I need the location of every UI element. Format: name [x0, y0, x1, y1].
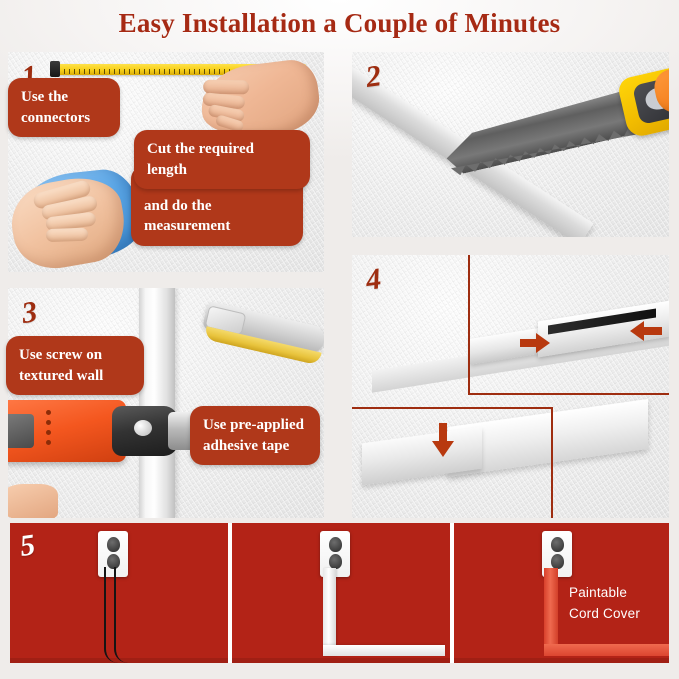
- step-3-panel: 3: [8, 288, 324, 518]
- power-drill-body: [8, 400, 126, 462]
- step-2-caption: Cut the required length: [134, 130, 310, 189]
- step-4-panel: 4: [352, 255, 669, 518]
- step-5-scene-painted-cover: Paintable Cord Cover: [454, 523, 669, 663]
- frame-line-horizontal-lower: [352, 407, 553, 409]
- infographic-page: Easy Installation a Couple of Minutes 1 …: [0, 0, 679, 679]
- page-title: Easy Installation a Couple of Minutes: [0, 6, 679, 40]
- paintable-label-line-1: Paintable: [569, 583, 640, 604]
- arrow-left-icon: [628, 321, 662, 341]
- step-5-scene-bare-cords: 5: [10, 523, 228, 663]
- paintable-label-line-2: Cord Cover: [569, 604, 640, 625]
- painted-cord-cover-horizontal: [544, 644, 669, 656]
- arrow-down-icon: [432, 423, 454, 457]
- frame-line-vertical-upper: [468, 255, 470, 395]
- step-3-caption-adhesive: Use pre-applied adhesive tape: [190, 406, 320, 465]
- arrow-right-icon: [520, 333, 550, 353]
- paintable-cord-cover-label: Paintable Cord Cover: [569, 583, 640, 625]
- step-3-caption-screw: Use screw on textured wall: [6, 336, 144, 395]
- step-4-caption: Use the connectors: [8, 78, 120, 137]
- step-5-scene-white-cover: [232, 523, 450, 663]
- hanging-cord-right: [114, 567, 146, 663]
- white-cord-cover-horizontal: [323, 645, 445, 656]
- step-5-panel: 5 Paintable Cord Cover: [10, 523, 669, 663]
- step-number-5: 5: [18, 530, 37, 562]
- vertical-cord-cover: [139, 288, 175, 518]
- painted-cord-cover-vertical: [544, 568, 558, 656]
- hand-holding-drill: [8, 484, 58, 518]
- white-cord-cover-vertical: [323, 568, 336, 656]
- screw-head: [134, 420, 152, 436]
- frame-line-vertical-lower: [551, 407, 553, 518]
- frame-line-horizontal-upper: [468, 393, 669, 395]
- tape-hook-icon: [50, 61, 60, 77]
- step-2-panel: 2: [352, 52, 669, 237]
